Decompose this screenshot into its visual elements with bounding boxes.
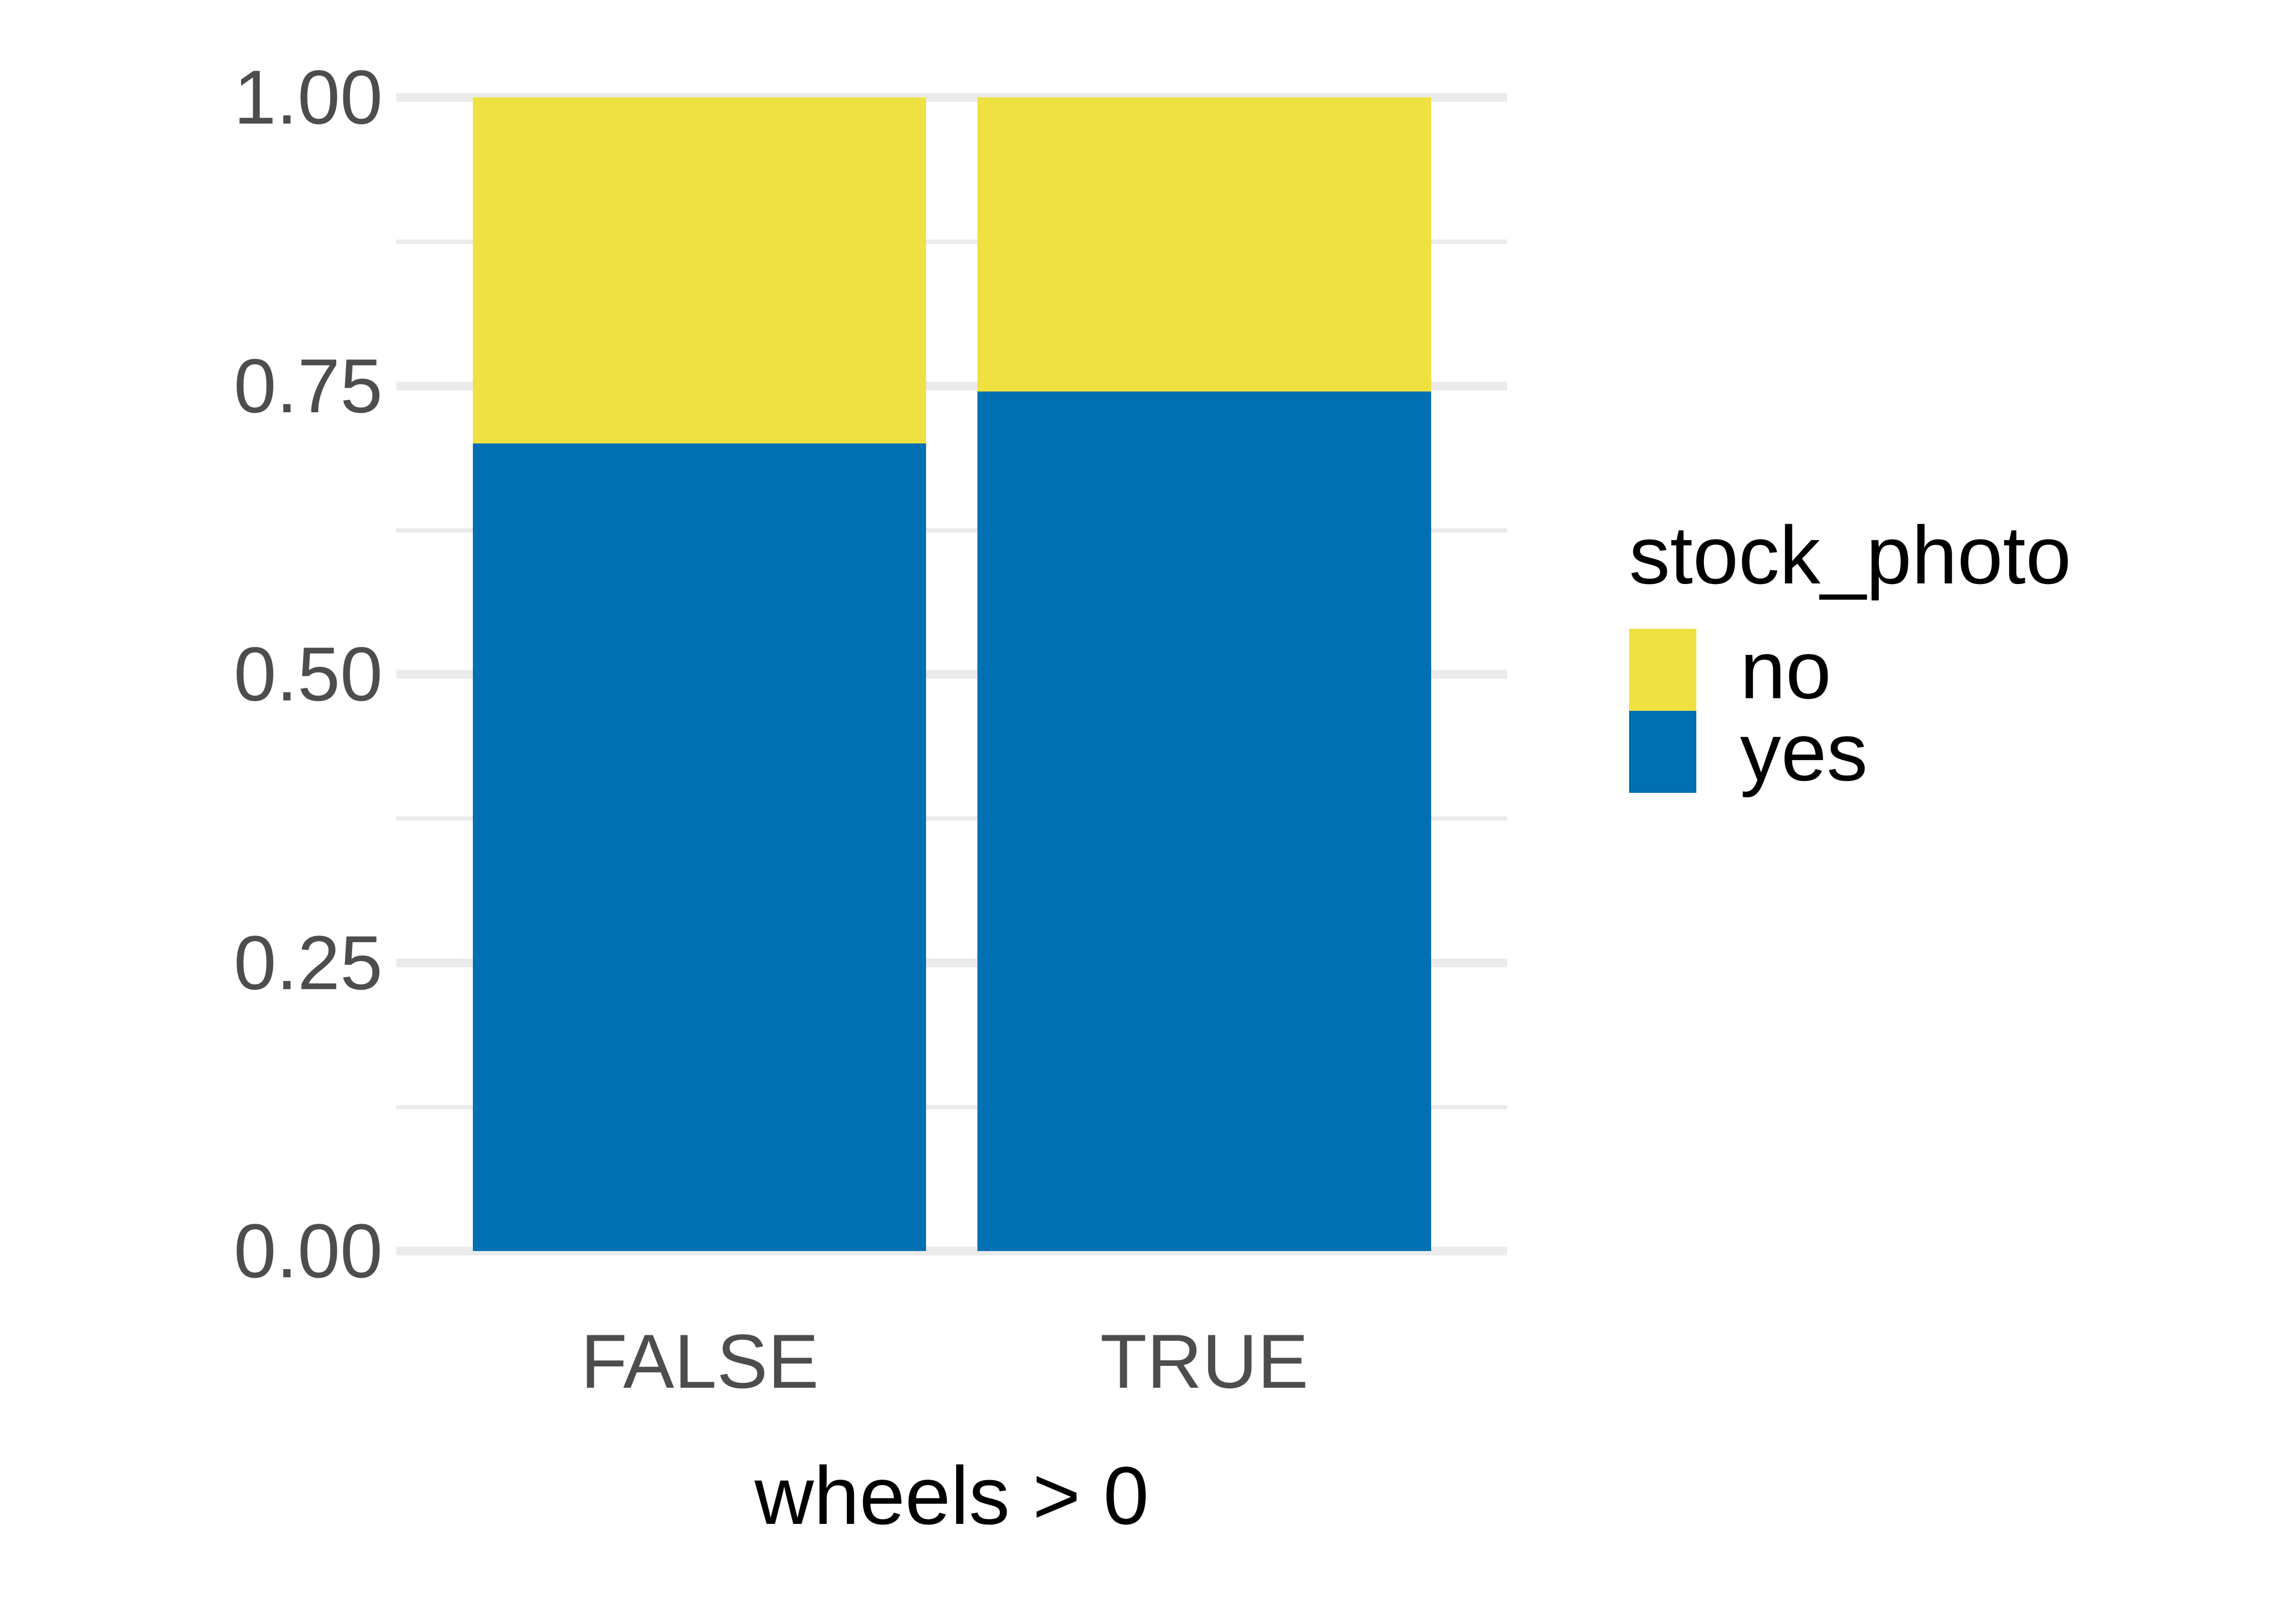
legend-key-no-swatch: [1629, 629, 1696, 711]
y-tick-label-0-50: 0.50: [44, 636, 383, 712]
bar-group-false[interactable]: [473, 97, 926, 1251]
legend-key-yes-swatch: [1629, 711, 1696, 793]
bar-segment-true-yes[interactable]: [977, 391, 1431, 1251]
legend-item-label-no: no: [1740, 629, 1831, 711]
legend-item-no[interactable]: no: [1629, 629, 2230, 711]
x-axis-title: wheels > 0: [396, 1454, 1507, 1536]
x-tick-label-true: TRUE: [1100, 1323, 1308, 1400]
y-axis-title: count: [0, 0, 142, 1607]
bar-segment-false-yes[interactable]: [473, 443, 926, 1251]
legend-item-label-yes: yes: [1740, 711, 1867, 793]
plot-panel: [396, 66, 1507, 1285]
y-tick-label-0-75: 0.75: [44, 348, 383, 424]
bar-group-true[interactable]: [977, 97, 1431, 1251]
legend: stock_photo no yes: [1629, 514, 2230, 793]
bar-segment-true-no[interactable]: [977, 97, 1431, 391]
y-tick-label-0-00: 0.00: [44, 1213, 383, 1289]
bar-segment-false-no[interactable]: [473, 97, 926, 443]
bar-chart: count 1.00 0.75 0.50 0.25 0.00 FALSE: [0, 0, 2296, 1607]
y-tick-label-1-00: 1.00: [44, 59, 383, 136]
legend-item-yes[interactable]: yes: [1629, 711, 2230, 793]
y-tick-label-0-25: 0.25: [44, 925, 383, 1001]
x-tick-label-false: FALSE: [581, 1323, 819, 1400]
legend-title: stock_photo: [1629, 514, 2230, 596]
